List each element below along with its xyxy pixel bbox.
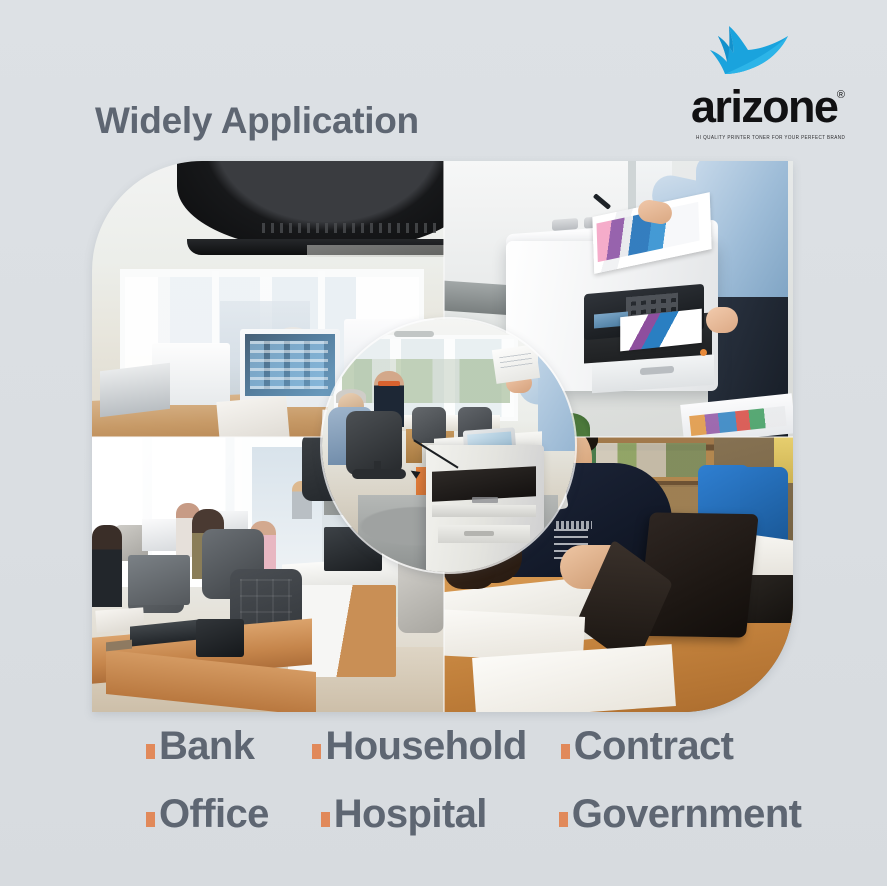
application-label: Hospital bbox=[334, 794, 487, 834]
poster-canvas: arizone ® HI QUALITY PRINTER TONER FOR Y… bbox=[0, 0, 887, 886]
application-list: Bank Household Contract Office Hospital bbox=[140, 726, 840, 862]
application-label: Bank bbox=[159, 726, 254, 766]
brand-wordmark: arizone bbox=[691, 84, 843, 129]
application-item-bank: Bank bbox=[146, 726, 254, 766]
application-label: Contract bbox=[574, 726, 734, 766]
bullet-square-icon bbox=[146, 744, 155, 759]
application-item-hospital: Hospital bbox=[321, 794, 487, 834]
application-label: Office bbox=[159, 794, 269, 834]
application-row-2: Office Hospital Government bbox=[140, 794, 840, 862]
bullet-square-icon bbox=[321, 812, 330, 827]
bullet-square-icon bbox=[146, 812, 155, 827]
application-item-household: Household bbox=[312, 726, 526, 766]
application-label: Government bbox=[572, 794, 802, 834]
circle-overlay-copier-office bbox=[322, 319, 575, 572]
brand-logo: arizone ® HI QUALITY PRINTER TONER FOR Y… bbox=[691, 22, 843, 138]
brand-tagline: HI QUALITY PRINTER TONER FOR YOUR PERFEC… bbox=[696, 134, 846, 140]
page-title: Widely Application bbox=[95, 100, 419, 143]
application-label: Household bbox=[325, 726, 526, 766]
bird-icon bbox=[699, 22, 789, 88]
application-row-1: Bank Household Contract bbox=[140, 726, 840, 794]
bullet-square-icon bbox=[559, 812, 568, 827]
application-item-contract: Contract bbox=[561, 726, 734, 766]
application-item-government: Government bbox=[559, 794, 802, 834]
registered-mark: ® bbox=[837, 90, 845, 101]
bullet-square-icon bbox=[561, 744, 570, 759]
bullet-square-icon bbox=[312, 744, 321, 759]
application-image-collage bbox=[92, 161, 793, 712]
application-item-office: Office bbox=[146, 794, 269, 834]
